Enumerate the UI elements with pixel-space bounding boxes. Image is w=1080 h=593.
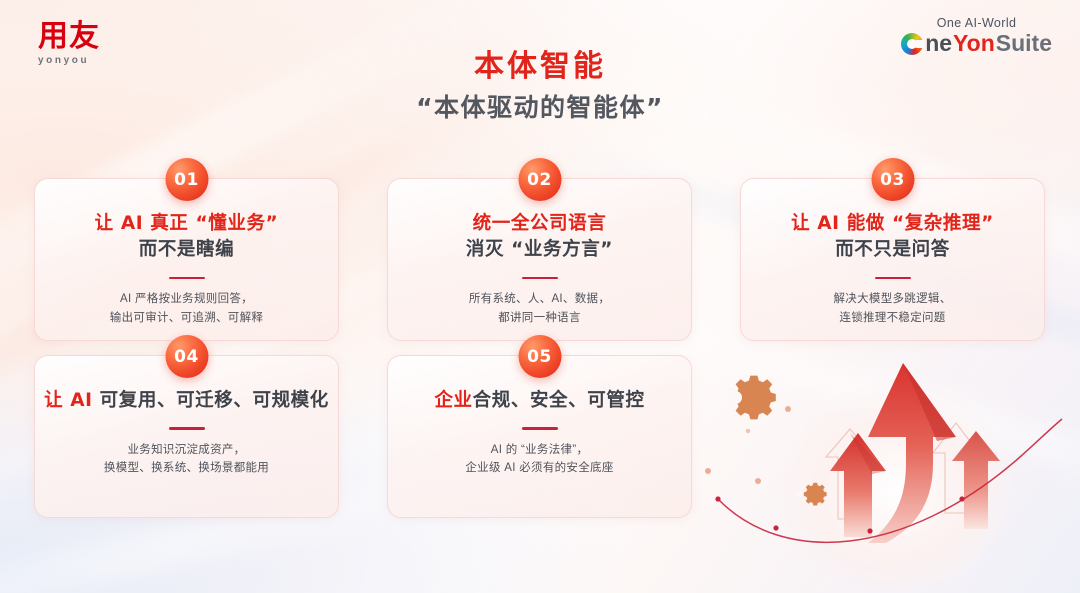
card-description: 解决大模型多跳逻辑、 连锁推理不稳定问题 <box>834 290 952 327</box>
card-headline: 让 AI 真正 “懂业务” 而不是瞎编 <box>95 211 279 264</box>
card-headline-line2: 而不是瞎编 <box>95 237 279 263</box>
feature-card-01[interactable]: 01 让 AI 真正 “懂业务” 而不是瞎编 AI 严格按业务规则回答， 输出可… <box>34 178 339 341</box>
card-description-line1: AI 的 “业务法律”， <box>465 441 613 460</box>
feature-card-02[interactable]: 02 统一全公司语言 消灭 “业务方言” 所有系统、人、AI、数据， 都讲同一种… <box>387 178 692 341</box>
card-description: 业务知识沉淀成资产， 换模型、换系统、换场景都能用 <box>104 441 269 478</box>
card-description-line2: 换模型、换系统、换场景都能用 <box>104 459 269 478</box>
feature-card-04[interactable]: 04 让 AI 可复用、可迁移、可规模化 业务知识沉淀成资产， 换模型、换系统、… <box>34 355 339 518</box>
card-description-line2: 连锁推理不稳定问题 <box>834 309 952 328</box>
card-row-bottom: 04 让 AI 可复用、可迁移、可规模化 业务知识沉淀成资产， 换模型、换系统、… <box>34 355 1046 518</box>
card-description-line1: 解决大模型多跳逻辑、 <box>834 290 952 309</box>
card-headline-rest: 可复用、可迁移、可规模化 <box>93 390 329 411</box>
card-headline-line2: 消灭 “业务方言” <box>466 237 613 263</box>
card-description-line1: 所有系统、人、AI、数据， <box>469 290 610 309</box>
title-block: 本体智能 “本体驱动的智能体” <box>0 50 1080 122</box>
card-headline: 统一全公司语言 消灭 “业务方言” <box>466 211 613 264</box>
page-title: 本体智能 <box>0 50 1080 85</box>
card-description-line2: 企业级 AI 必须有的安全底座 <box>465 459 613 478</box>
card-description-line1: 业务知识沉淀成资产， <box>104 441 269 460</box>
card-description: 所有系统、人、AI、数据， 都讲同一种语言 <box>469 290 610 327</box>
card-description: AI 严格按业务规则回答， 输出可审计、可追溯、可解释 <box>110 290 263 327</box>
card-number-badge: 02 <box>518 158 561 201</box>
card-number-badge: 04 <box>165 335 208 378</box>
card-headline: 企业合规、安全、可管控 <box>434 388 644 414</box>
card-description-line1: AI 严格按业务规则回答， <box>110 290 263 309</box>
card-headline-line2: 而不只是问答 <box>791 237 994 263</box>
card-headline-highlight: 让 AI 真正 “懂业务” <box>95 213 279 234</box>
feature-card-05[interactable]: 05 企业合规、安全、可管控 AI 的 “业务法律”， 企业级 AI 必须有的安… <box>387 355 692 518</box>
card-description-line2: 输出可审计、可追溯、可解释 <box>110 309 263 328</box>
card-headline: 让 AI 能做 “复杂推理” 而不只是问答 <box>791 211 994 264</box>
one-ai-world-tagline: One AI-World <box>901 16 1052 30</box>
card-headline-highlight: 企业 <box>434 390 472 411</box>
card-divider <box>875 277 911 280</box>
card-headline-highlight: 让 AI <box>44 390 93 411</box>
card-description: AI 的 “业务法律”， 企业级 AI 必须有的安全底座 <box>465 441 613 478</box>
card-divider <box>169 277 205 280</box>
card-description-line2: 都讲同一种语言 <box>469 309 610 328</box>
card-headline-highlight: 让 AI 能做 “复杂推理” <box>791 213 994 234</box>
card-headline-rest: 合规、安全、可管控 <box>473 390 645 411</box>
card-number-badge: 01 <box>165 158 208 201</box>
card-headline: 让 AI 可复用、可迁移、可规模化 <box>44 388 329 414</box>
yonyou-logo-cn: 用友 <box>38 22 100 52</box>
card-number-badge: 05 <box>518 335 561 378</box>
card-divider <box>522 277 558 280</box>
feature-card-03[interactable]: 03 让 AI 能做 “复杂推理” 而不只是问答 解决大模型多跳逻辑、 连锁推理… <box>740 178 1045 341</box>
card-divider <box>169 427 205 430</box>
feature-card-grid: 01 让 AI 真正 “懂业务” 而不是瞎编 AI 严格按业务规则回答， 输出可… <box>34 178 1046 518</box>
card-row-top: 01 让 AI 真正 “懂业务” 而不是瞎编 AI 严格按业务规则回答， 输出可… <box>34 178 1046 341</box>
card-number-badge: 03 <box>871 158 914 201</box>
card-divider <box>522 427 558 430</box>
page-subtitle: “本体驱动的智能体” <box>0 94 1080 123</box>
card-headline-highlight: 统一全公司语言 <box>473 213 607 234</box>
